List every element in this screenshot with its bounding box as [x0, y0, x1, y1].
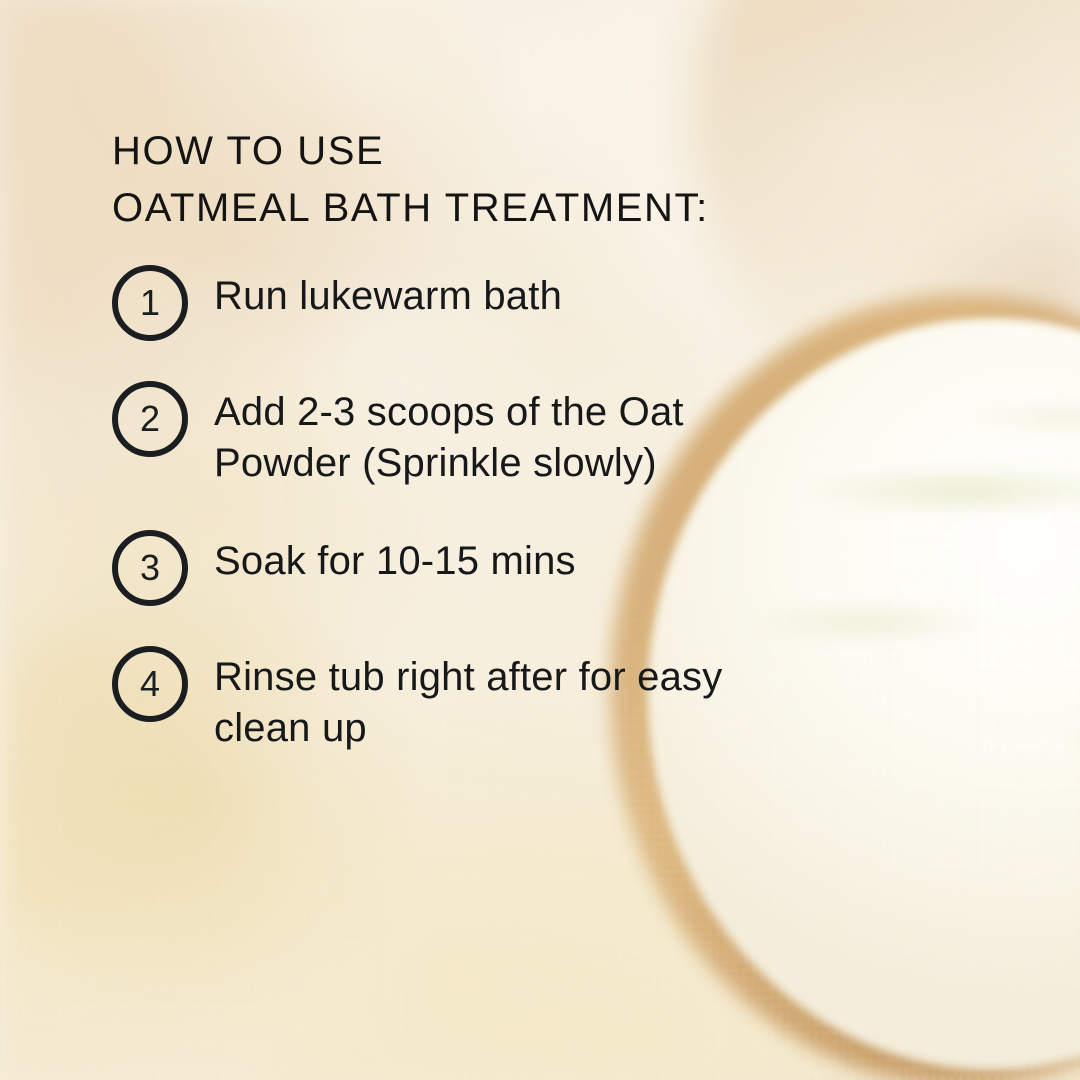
step-number-badge: 4 [112, 646, 188, 722]
step-instruction-text: Run lukewarm bath [214, 263, 562, 322]
step-instruction-text: Rinse tub right after for easy clean up [214, 644, 732, 754]
page-title-line-2: OATMEAL BATH TREATMENT: [112, 180, 732, 237]
step-instruction-text: Add 2-3 scoops of the Oat Powder (Sprink… [214, 379, 732, 489]
step-number-badge: 3 [112, 530, 188, 606]
page-title-line-1: HOW TO USE [112, 123, 732, 180]
step-number-badge: 2 [112, 381, 188, 457]
list-item: 1 Run lukewarm bath [112, 263, 732, 341]
page-title: HOW TO USE OATMEAL BATH TREATMENT: [112, 123, 732, 237]
list-item: 4 Rinse tub right after for easy clean u… [112, 644, 732, 754]
step-instruction-text: Soak for 10-15 mins [214, 528, 576, 587]
step-number-label: 3 [140, 550, 160, 586]
list-item: 3 Soak for 10-15 mins [112, 528, 732, 606]
instruction-content: HOW TO USE OATMEAL BATH TREATMENT: 1 Run… [112, 96, 732, 792]
step-number-label: 4 [140, 666, 160, 702]
list-item: 2 Add 2-3 scoops of the Oat Powder (Spri… [112, 379, 732, 489]
step-number-label: 1 [140, 285, 160, 321]
step-number-label: 2 [140, 401, 160, 437]
oatmeal-bath-instruction-poster: HOW TO USE OATMEAL BATH TREATMENT: 1 Run… [0, 0, 1080, 1080]
step-number-badge: 1 [112, 265, 188, 341]
steps-list: 1 Run lukewarm bath 2 Add 2-3 scoops of … [112, 263, 732, 754]
